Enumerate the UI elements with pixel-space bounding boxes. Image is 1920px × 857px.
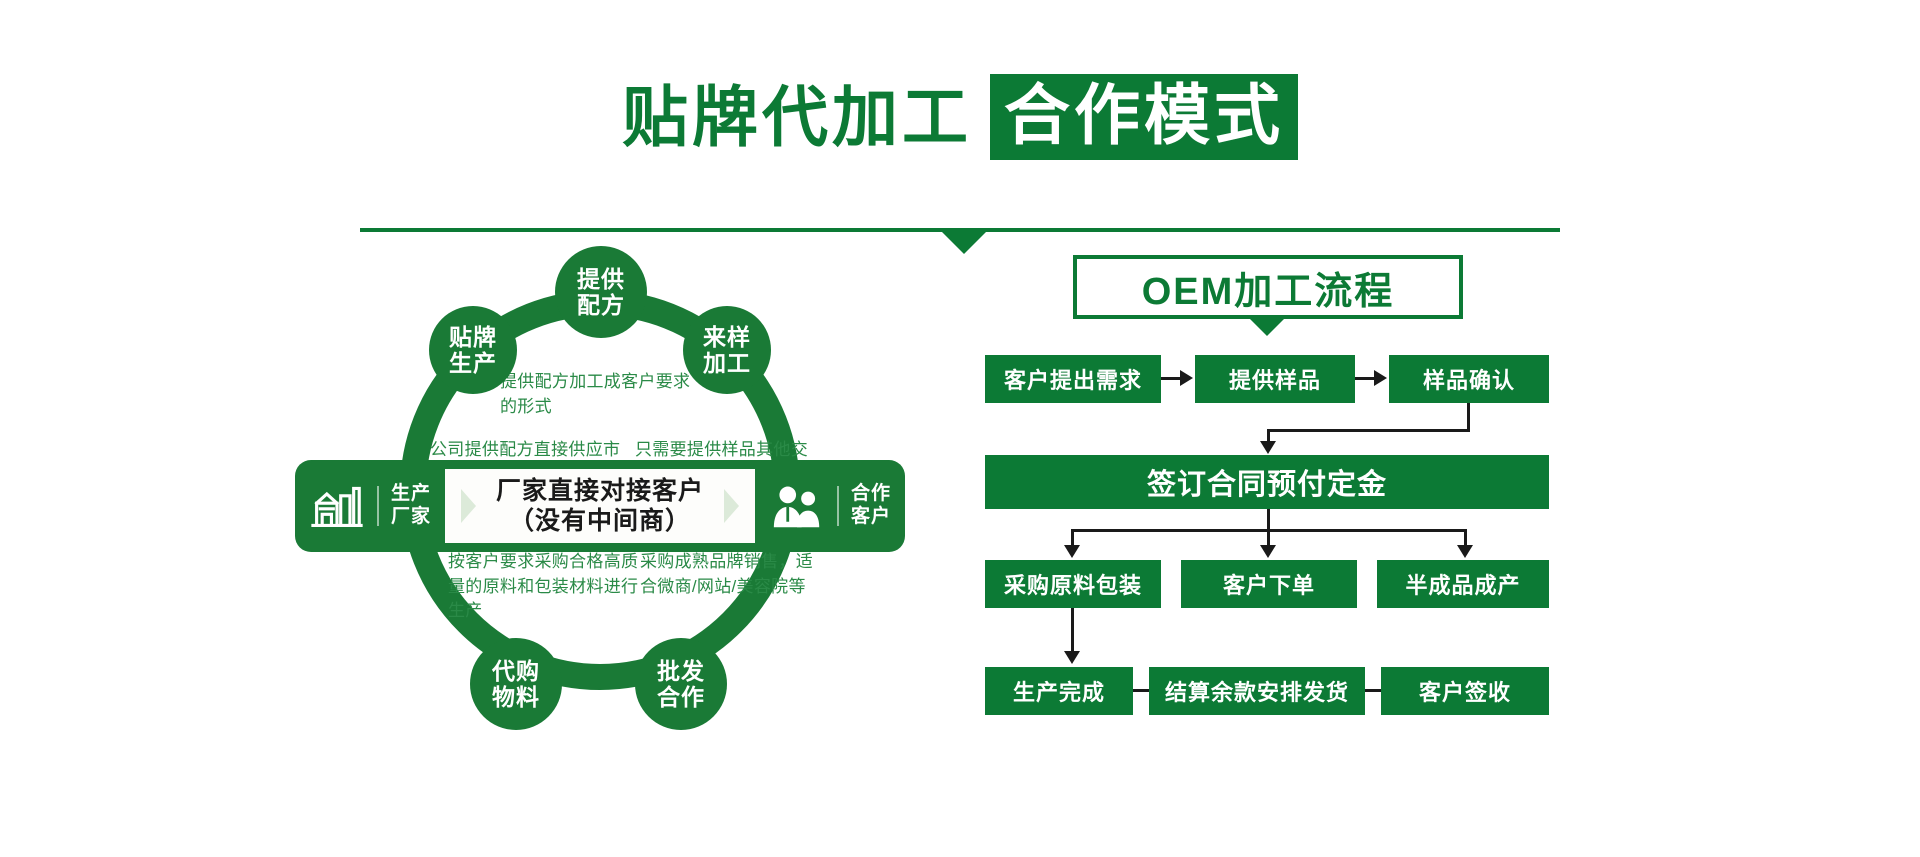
cycle-node-purchase-materials[interactable]: 代购 物料 (470, 638, 562, 730)
flow-arrow-line (1467, 403, 1470, 431)
flow-arrow-line (1355, 377, 1375, 380)
arrow-down-icon (1064, 545, 1080, 558)
page-title-highlight: 合作模式 (990, 74, 1298, 160)
flow-step-semi-finished[interactable]: 半成品成产 (1377, 560, 1549, 608)
customer-label: 合作 客户 (851, 483, 891, 529)
arrow-down-icon (1457, 545, 1473, 558)
flow-step-customer-requirement[interactable]: 客户提出需求 (985, 355, 1161, 403)
oem-flow-heading: OEM加工流程 (1073, 255, 1463, 319)
divider (837, 486, 839, 526)
flow-arrow-line (1071, 608, 1074, 653)
cycle-node-sample-processing[interactable]: 来样 加工 (683, 306, 771, 394)
flow-arrow-line (1133, 689, 1149, 692)
oem-process-flowchart: OEM加工流程 客户提出需求 提供样品 样品确认 签订合同预付定金 采购原料包装… (985, 255, 1565, 675)
direct-connection-line1: 厂家直接对接客户 (496, 476, 704, 507)
cycle-node-line1: 来样 (703, 324, 751, 350)
cycle-node-line2: 生产 (449, 350, 497, 376)
title-divider-notch-icon (942, 232, 986, 254)
flow-step-production-complete[interactable]: 生产完成 (985, 667, 1133, 715)
arrow-down-icon (1064, 651, 1080, 664)
page-title: 贴牌代加工 合作模式 (0, 74, 1920, 160)
arrow-down-icon (1260, 441, 1276, 454)
manufacturer-label-line2: 厂家 (391, 506, 431, 529)
customer-label-line2: 客户 (851, 506, 891, 529)
cooperation-cycle-diagram: 提供配方加工成客户要求的形式 公司提供配方直接供应市场需要的产品 只需要提供样品… (345, 260, 865, 780)
desc-wholesale-cooperation: 采购成熟品牌销售，适合微商/网站/美容院等 (640, 550, 815, 599)
direct-connection-bar: 生产 厂家 厂家直接对接客户 （没有中间商） (295, 460, 905, 552)
cycle-node-line1: 代购 (492, 658, 540, 684)
flow-step-provide-sample[interactable]: 提供样品 (1195, 355, 1355, 403)
cycle-node-wholesale-cooperation[interactable]: 批发 合作 (635, 638, 727, 730)
page-title-plain: 贴牌代加工 (622, 84, 972, 150)
direct-connection-message: 厂家直接对接客户 （没有中间商） (445, 469, 755, 543)
desc-provide-formula: 提供配方加工成客户要求的形式 (500, 370, 700, 419)
cycle-node-line2: 合作 (657, 684, 705, 710)
manufacturer-side: 生产 厂家 (295, 481, 445, 531)
manufacturer-label: 生产 厂家 (391, 483, 431, 529)
factory-icon (309, 481, 365, 531)
direct-connection-text: 厂家直接对接客户 （没有中间商） (496, 476, 704, 537)
flow-step-purchase-raw-packaging[interactable]: 采购原料包装 (985, 560, 1161, 608)
oem-heading-notch-icon (1250, 319, 1284, 336)
flow-arrow-line (1267, 509, 1270, 531)
chevron-right-icon-left (461, 489, 476, 523)
cycle-node-line1: 贴牌 (449, 324, 497, 350)
cycle-node-line1: 批发 (657, 658, 705, 684)
cycle-node-line2: 加工 (703, 350, 751, 376)
desc-purchase-materials: 按客户要求采购合格高质量的原料和包装材料进行生产 (448, 550, 653, 624)
cycle-node-provide-formula[interactable]: 提供 配方 (555, 246, 647, 338)
flow-arrow-line (1161, 377, 1181, 380)
customer-label-line1: 合作 (851, 483, 891, 506)
cycle-node-line2: 物料 (492, 684, 540, 710)
infographic-root: 贴牌代加工 合作模式 提供配方加工成客户要求的形式 公司提供配方直接供应市场需要… (0, 0, 1920, 857)
flow-arrow-line (1267, 429, 1470, 432)
arrow-right-icon (1180, 370, 1193, 386)
arrow-down-icon (1260, 545, 1276, 558)
oem-flow-heading-text: OEM加工流程 (1142, 260, 1395, 315)
flow-arrow-line (1365, 689, 1381, 692)
cycle-node-oem-production[interactable]: 贴牌 生产 (429, 306, 517, 394)
flow-step-sample-confirm[interactable]: 样品确认 (1389, 355, 1549, 403)
flow-step-sign-contract-deposit[interactable]: 签订合同预付定金 (985, 455, 1549, 509)
manufacturer-label-line1: 生产 (391, 483, 431, 506)
divider (377, 486, 379, 526)
customers-icon (769, 481, 825, 531)
cycle-node-line1: 提供 (577, 266, 625, 292)
cycle-node-line2: 配方 (577, 292, 625, 318)
flow-step-customer-receipt[interactable]: 客户签收 (1381, 667, 1549, 715)
direct-connection-line2: （没有中间商） (496, 506, 704, 537)
flow-step-settle-balance-ship[interactable]: 结算余款安排发货 (1149, 667, 1365, 715)
customer-side: 合作 客户 (755, 481, 905, 531)
arrow-right-icon (1374, 370, 1387, 386)
chevron-right-icon-right (724, 489, 739, 523)
flow-step-customer-order[interactable]: 客户下单 (1181, 560, 1357, 608)
